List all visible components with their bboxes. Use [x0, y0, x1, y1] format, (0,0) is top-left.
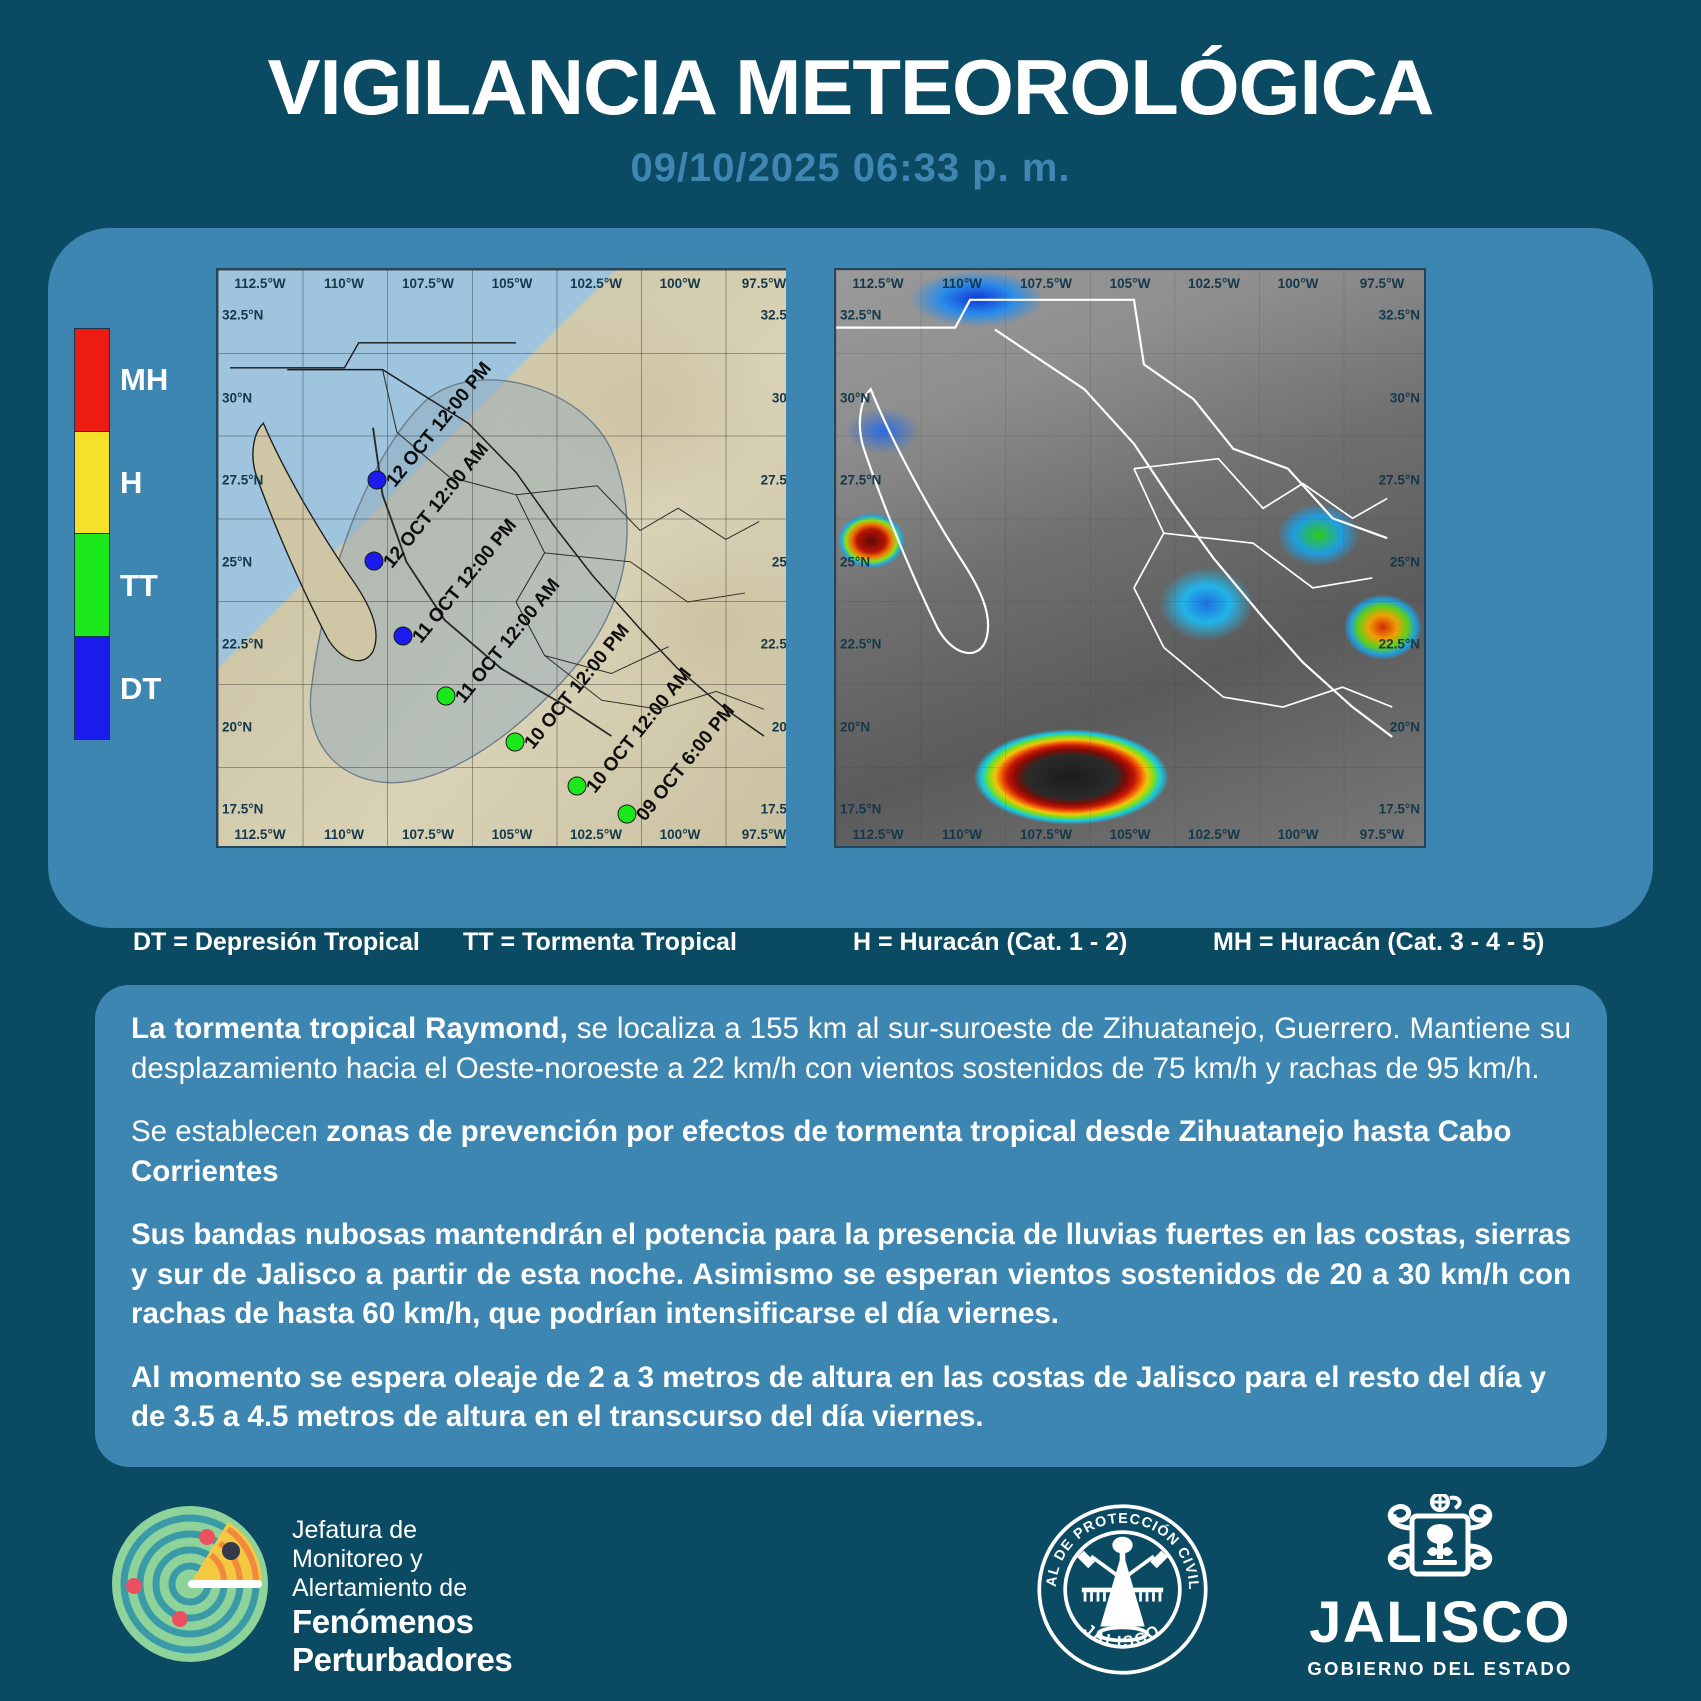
track-point-dt: [367, 471, 386, 490]
satellite-lat-tick: 20°N: [840, 719, 870, 734]
maps-panel: MHHTTDT: [48, 228, 1653, 928]
category-legend-row: DT = Depresión Tropical TT = Tormenta Tr…: [48, 928, 1653, 957]
forecast-lat-tick: 30°N: [222, 390, 252, 405]
track-point-tt: [436, 687, 455, 706]
forecast-lon-tick: 107.5°W: [402, 276, 454, 291]
header: VIGILANCIA METEOROLÓGICA 09/10/2025 06:3…: [0, 0, 1701, 191]
bulletin-text-panel: La tormenta tropical Raymond, se localiz…: [95, 985, 1607, 1467]
jmf-line-5: Perturbadores: [292, 1641, 512, 1679]
satellite-lon-tick: 107.5°W: [1020, 276, 1072, 291]
forecast-lon-tick: 105°W: [492, 827, 533, 842]
satellite-map: 112.5°W112.5°W110°W110°W107.5°W107.5°W10…: [786, 240, 1476, 880]
jmf-line-2: Monitoreo y: [292, 1545, 512, 1574]
paragraph-rain-wind: Sus bandas nubosas mantendrán el potenci…: [131, 1215, 1571, 1334]
jmf-wordmark: Jefatura de Monitoreo y Alertamiento de …: [292, 1516, 512, 1680]
track-point-dt: [364, 551, 383, 570]
proteccion-civil-seal-icon: UNIDAD ESTATAL DE PROTECCIÓN CIVIL Y BOM…: [1030, 1492, 1215, 1687]
satellite-lat-tick: 22.5°N: [840, 637, 881, 652]
satellite-lon-tick: 112.5°W: [852, 827, 903, 842]
track-point-tt: [617, 805, 636, 824]
forecast-lon-tick: 112.5°W: [234, 827, 285, 842]
satellite-lat-tick: 17.5°N: [1379, 801, 1420, 816]
forecast-lat-tick: 22.5°N: [222, 637, 263, 652]
satellite-lon-tick: 102.5°W: [1188, 276, 1240, 291]
radar-logo-icon: [110, 1504, 270, 1664]
forecast-lon-tick: 102.5°W: [570, 276, 622, 291]
satellite-lon-tick: 100°W: [1278, 827, 1319, 842]
forecast-lon-tick: 97.5°W: [742, 276, 786, 291]
forecast-lon-tick: 110°W: [324, 827, 364, 842]
forecast-lat-tick: 17.5°N: [222, 801, 263, 816]
satellite-lon-tick: 100°W: [1278, 276, 1319, 291]
satellite-lat-tick: 22.5°N: [1379, 637, 1420, 652]
satellite-lat-tick: 30°N: [1390, 390, 1420, 405]
jmf-line-3: Alertamiento de: [292, 1574, 512, 1603]
footer: Jefatura de Monitoreo y Alertamiento de …: [0, 1480, 1701, 1701]
satellite-lon-tick: 110°W: [942, 827, 982, 842]
forecast-lon-tick: 107.5°W: [402, 827, 454, 842]
forecast-lon-tick: 105°W: [492, 276, 533, 291]
track-point-tt: [505, 733, 524, 752]
satellite-lat-tick: 27.5°N: [840, 472, 881, 487]
prevention-zones: zonas de prevención por efectos de torme…: [131, 1115, 1511, 1188]
page-title: VIGILANCIA METEOROLÓGICA: [0, 48, 1701, 126]
bulletin-datetime: 09/10/2025 06:33 p. m.: [0, 146, 1701, 191]
legend-swatch-h: [75, 432, 109, 535]
forecast-lon-tick: 102.5°W: [570, 827, 622, 842]
satellite-gridlines: [836, 270, 1424, 846]
legend-tt: TT = Tormenta Tropical: [463, 928, 853, 957]
paragraph-waves: Al momento se espera oleaje de 2 a 3 met…: [131, 1358, 1571, 1437]
satellite-lon-tick: 97.5°W: [1360, 276, 1404, 291]
forecast-lon-tick: 100°W: [660, 276, 701, 291]
satellite-lon-tick: 112.5°W: [852, 276, 903, 291]
forecast-lon-tick: 110°W: [324, 276, 364, 291]
forecast-lat-tick: 32.5°N: [222, 308, 263, 323]
jmf-line-1: Jefatura de: [292, 1516, 512, 1545]
jalisco-tagline: GOBIERNO DEL ESTADO: [1295, 1658, 1585, 1680]
storm-name: La tormenta tropical Raymond,: [131, 1012, 568, 1045]
forecast-track-map: 112.5°W112.5°W110°W110°W107.5°W107.5°W10…: [168, 240, 858, 880]
satellite-lon-tick: 97.5°W: [1360, 827, 1404, 842]
satellite-lat-tick: 25°N: [840, 555, 870, 570]
jalisco-coat-of-arms-icon: [1365, 1494, 1515, 1594]
forecast-lat-tick: 27.5°N: [222, 472, 263, 487]
satellite-lon-tick: 105°W: [1110, 276, 1151, 291]
paragraph-prevention-zones: Se establecen zonas de prevención por ef…: [131, 1112, 1571, 1191]
satellite-lon-tick: 102.5°W: [1188, 827, 1240, 842]
satellite-lat-tick: 30°N: [840, 390, 870, 405]
legend-swatch-mh: [75, 329, 109, 432]
intensity-legend-bar: [74, 328, 110, 740]
satellite-lat-tick: 32.5°N: [840, 308, 881, 323]
legend-h: H = Huracán (Cat. 1 - 2): [853, 928, 1213, 957]
forecast-track-map-canvas: 112.5°W112.5°W110°W110°W107.5°W107.5°W10…: [216, 268, 808, 848]
satellite-lon-tick: 105°W: [1110, 827, 1151, 842]
legend-swatch-dt: [75, 637, 109, 740]
forecast-lon-tick: 97.5°W: [742, 827, 786, 842]
satellite-lat-tick: 27.5°N: [1379, 472, 1420, 487]
infographic-page: VIGILANCIA METEOROLÓGICA 09/10/2025 06:3…: [0, 0, 1701, 1701]
satellite-lat-tick: 17.5°N: [840, 801, 881, 816]
forecast-lat-tick: 20°N: [222, 719, 252, 734]
prevention-prefix: Se establecen: [131, 1115, 326, 1148]
satellite-lat-tick: 20°N: [1390, 719, 1420, 734]
satellite-lat-tick: 25°N: [1390, 555, 1420, 570]
map-gridlines: [218, 270, 806, 846]
jalisco-wordmark: JALISCO: [1295, 1594, 1585, 1652]
legend-swatch-tt: [75, 534, 109, 637]
satellite-map-canvas: 112.5°W112.5°W110°W110°W107.5°W107.5°W10…: [834, 268, 1426, 848]
satellite-lon-tick: 110°W: [942, 276, 982, 291]
forecast-lon-tick: 112.5°W: [234, 276, 285, 291]
legend-mh: MH = Huracán (Cat. 3 - 4 - 5): [1213, 928, 1568, 957]
satellite-lon-tick: 107.5°W: [1020, 827, 1072, 842]
paragraph-location: La tormenta tropical Raymond, se localiz…: [131, 1009, 1571, 1088]
jmf-line-4: Fenómenos: [292, 1603, 512, 1641]
forecast-lat-tick: 25°N: [222, 555, 252, 570]
forecast-lon-tick: 100°W: [660, 827, 701, 842]
jalisco-government-logo: JALISCO GOBIERNO DEL ESTADO: [1295, 1494, 1585, 1689]
satellite-lat-tick: 32.5°N: [1379, 308, 1420, 323]
legend-dt: DT = Depresión Tropical: [133, 928, 463, 957]
